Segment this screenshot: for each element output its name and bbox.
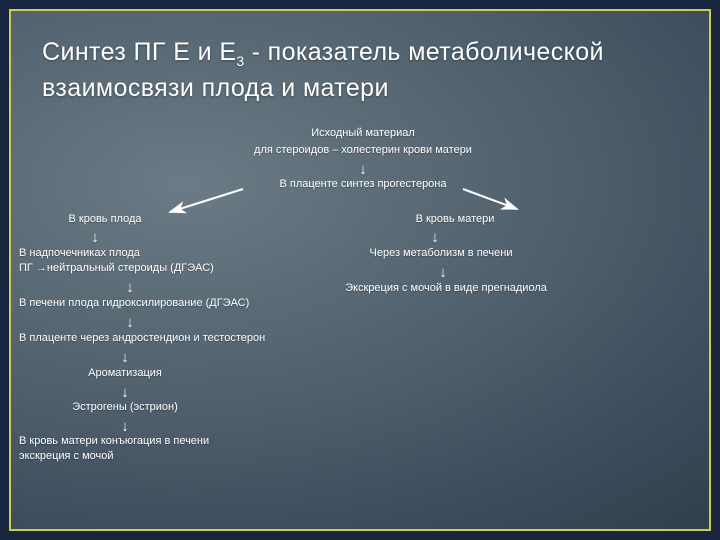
flow-top-line-3: В плаценте синтез прогестерона — [280, 177, 447, 192]
flow-left-arrow-8: ↓ — [121, 350, 129, 365]
flow-right-item-0: В кровь матери — [416, 212, 495, 227]
flow-left-item-11: Эстрогены (эстрион) — [72, 400, 178, 415]
flow-left-arrow-12: ↓ — [121, 419, 129, 434]
flow-left-item-5: В печени плода гидроксилирование (ДГЭАС) — [19, 296, 249, 311]
flow-top-line-2: для стероидов – холестерин крови матери — [254, 143, 472, 158]
flow-left-item-0: В кровь плода — [69, 212, 142, 227]
flow-top-arrow: ↓ — [359, 162, 367, 177]
flow-left-item-7: В плаценте через андростендион и тестост… — [19, 331, 265, 346]
title-line-1: Синтез ПГ Е и Е3 - показатель метаболиче… — [42, 36, 682, 72]
flow-left-arrow-10: ↓ — [121, 385, 129, 400]
flow-right-arrow-3: ↓ — [439, 265, 447, 280]
flow-left-item-2: В надпочечниках плода — [19, 246, 140, 261]
flow-left-arrow-4: ↓ — [126, 280, 134, 295]
flow-left-arrow-6: ↓ — [126, 315, 134, 330]
flow-left-item-13: В кровь матери конъюгация в печени — [19, 434, 209, 449]
title-text-before-subscript: Синтез ПГ Е и Е — [42, 38, 236, 66]
flow-left-arrow-1: ↓ — [91, 230, 99, 245]
title-text-after-subscript: - показатель метаболической — [244, 38, 604, 66]
flow-top-line-1: Исходный материал — [311, 126, 415, 141]
flow-right-arrow-1: ↓ — [431, 230, 439, 245]
flow-left-item-3: ПГ →нейтральный стероиды (ДГЭАС) — [19, 261, 214, 276]
slide: Синтез ПГ Е и Е3 - показатель метаболиче… — [0, 0, 720, 540]
title-line-2: взаимосвязи плода и матери — [42, 72, 682, 105]
page-title: Синтез ПГ Е и Е3 - показатель метаболиче… — [42, 36, 682, 105]
flow-left-item-9: Ароматизация — [88, 366, 162, 381]
flow-right-item-2: Через метаболизм в печени — [370, 246, 513, 261]
flow-right-item-4: Экскреция с мочой в виде прегнадиола — [345, 281, 547, 296]
title-subscript: 3 — [236, 53, 244, 69]
flow-left-item-14: экскреция с мочой — [19, 449, 114, 464]
